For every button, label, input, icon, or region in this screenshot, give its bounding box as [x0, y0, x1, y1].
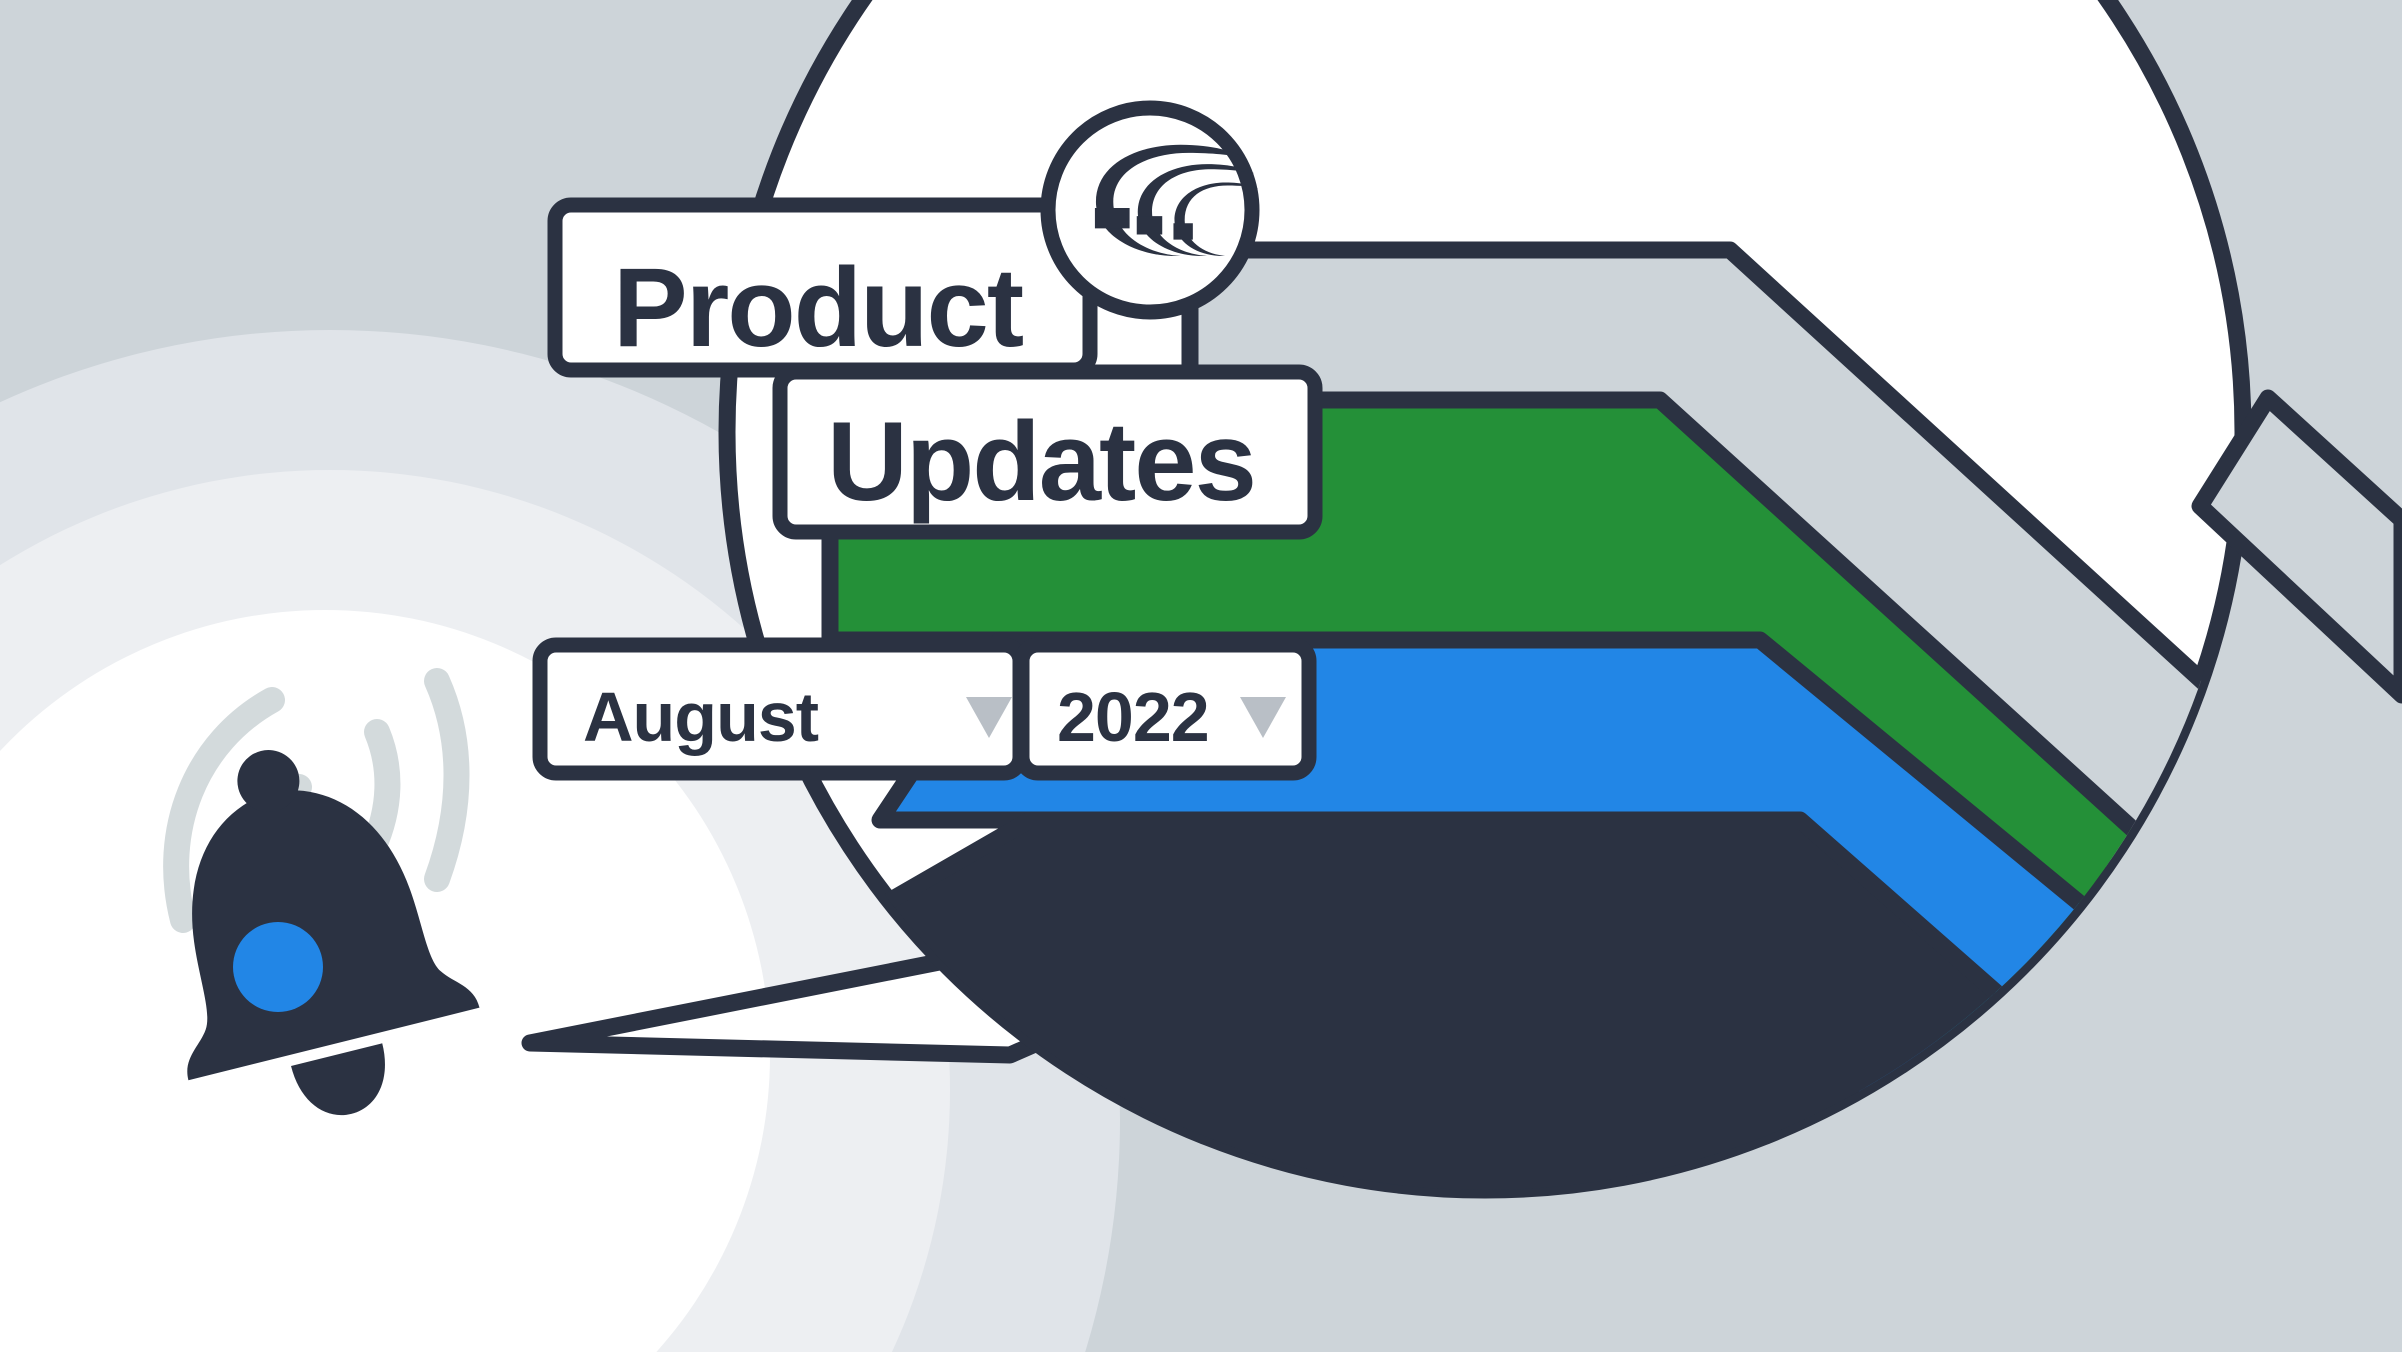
- brand-logo: [1048, 108, 1253, 313]
- month-chevron-down-icon[interactable]: [960, 690, 1020, 736]
- bell-notification-icon: [95, 555, 355, 780]
- notification-dot: [233, 922, 323, 1012]
- product-updates-banner: Product Updates August 2022: [0, 0, 2402, 1352]
- product-title-card: [555, 205, 1090, 370]
- year-chevron-down-icon[interactable]: [1232, 690, 1292, 736]
- updates-title-card: [780, 372, 1315, 532]
- month-dropdown[interactable]: [540, 645, 1020, 773]
